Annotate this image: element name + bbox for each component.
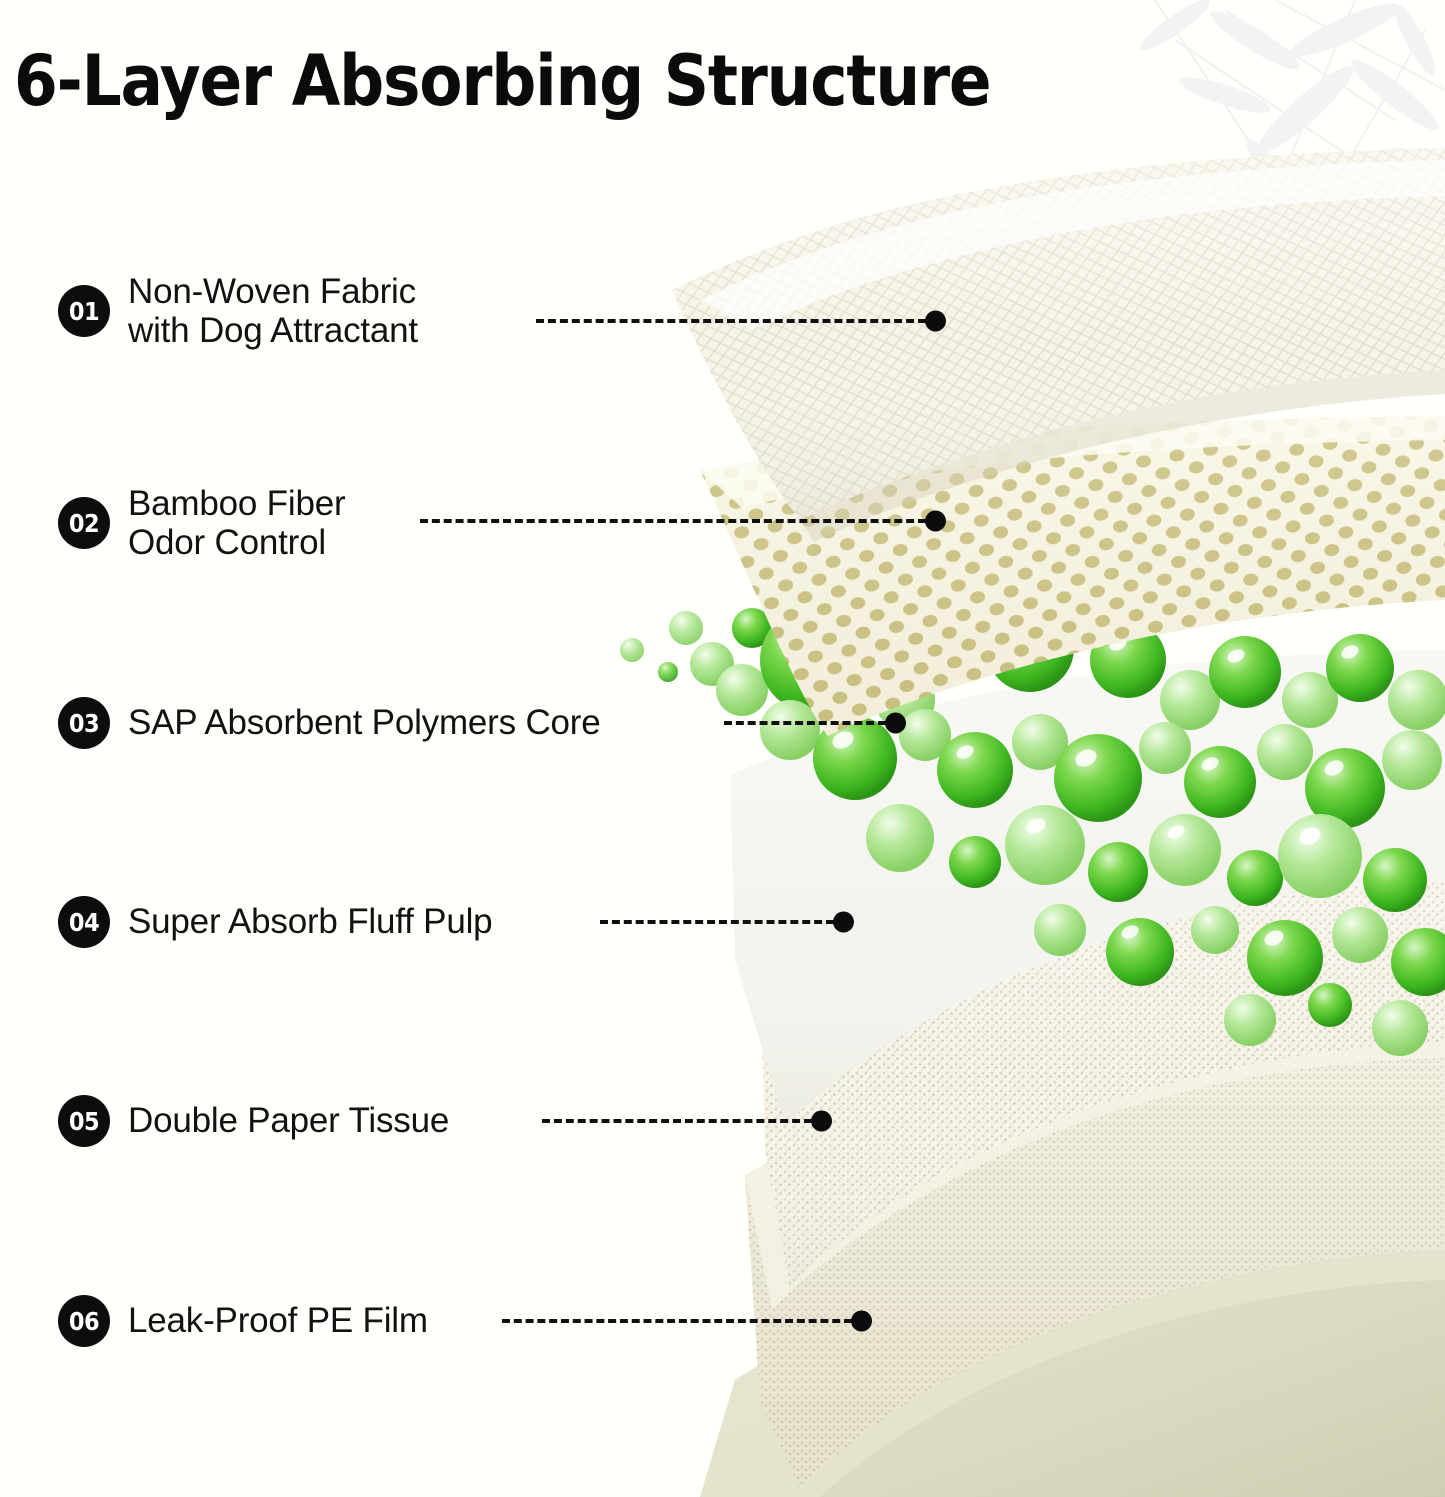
layer-label-03: SAP Absorbent Polymers Core (128, 703, 601, 742)
page-title: 6-Layer Absorbing Structure (14, 44, 990, 118)
leader-dot-06 (851, 1311, 872, 1332)
callout-layer-04[interactable]: 04 Super Absorb Fluff Pulp (58, 896, 492, 948)
callout-layer-03[interactable]: 03 SAP Absorbent Polymers Core (58, 697, 601, 749)
layer-02-bamboo-fiber (700, 416, 1445, 736)
layer-label-01: Non-Woven Fabric with Dog Attractant (128, 272, 418, 350)
layer-03-sap-beads (620, 576, 1445, 1056)
leader-dot-02 (925, 511, 946, 532)
layer-label-05: Double Paper Tissue (128, 1101, 449, 1140)
leader-dot-03 (885, 713, 906, 734)
leader-line-05 (542, 1110, 832, 1132)
layer-badge-03: 03 (58, 697, 110, 749)
layer-label-02: Bamboo Fiber Odor Control (128, 484, 345, 562)
callout-layer-06[interactable]: 06 Leak-Proof PE Film (58, 1295, 428, 1347)
callout-layer-01[interactable]: 01 Non-Woven Fabric with Dog Attractant (58, 272, 418, 350)
layer-01-nonwoven-fabric (672, 148, 1445, 542)
layer-06-pe-film (700, 1236, 1445, 1497)
callout-layer-05[interactable]: 05 Double Paper Tissue (58, 1095, 449, 1147)
leader-dot-01 (925, 311, 946, 332)
bamboo-leaves-watermark (925, 0, 1445, 330)
layer-badge-01: 01 (58, 285, 110, 337)
sap-carrier-sheet (730, 650, 1445, 1126)
callout-layer-02[interactable]: 02 Bamboo Fiber Odor Control (58, 484, 345, 562)
layer-05-paper-tissue (745, 1030, 1445, 1490)
leader-line-02 (420, 510, 946, 532)
infographic-canvas: 6-Layer Absorbing Structure 01 Non-Woven… (0, 0, 1445, 1497)
leader-line-04 (600, 911, 854, 933)
leader-line-03 (724, 712, 906, 734)
layer-label-04: Super Absorb Fluff Pulp (128, 902, 492, 941)
leader-dot-04 (833, 912, 854, 933)
layer-badge-02: 02 (58, 497, 110, 549)
layer-badge-06: 06 (58, 1295, 110, 1347)
leader-dot-05 (811, 1111, 832, 1132)
layer-badge-05: 05 (58, 1095, 110, 1147)
leader-line-06 (502, 1310, 872, 1332)
layer-label-06: Leak-Proof PE Film (128, 1301, 428, 1340)
layer-04-fluff-pulp (760, 814, 1445, 1288)
leader-line-01 (536, 310, 946, 332)
layer-badge-04: 04 (58, 896, 110, 948)
